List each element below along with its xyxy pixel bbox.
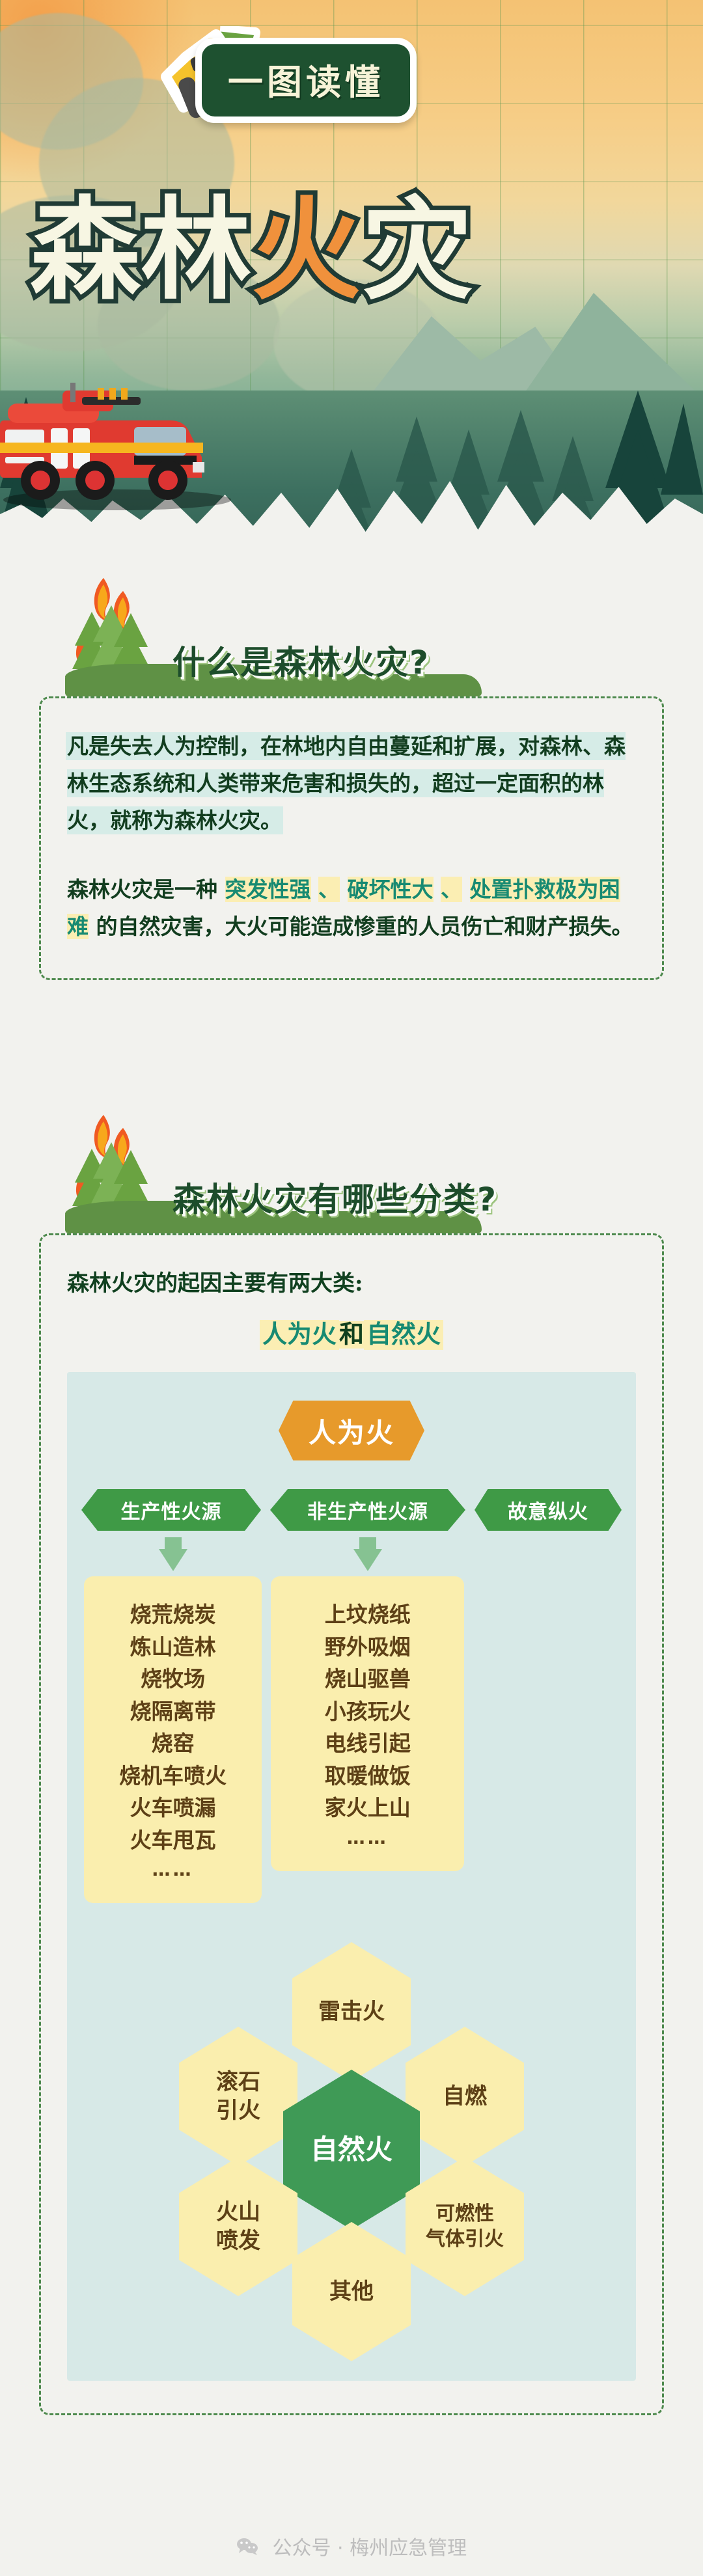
s1p2-seg-5: 、 [441, 877, 462, 902]
arrow-stem [359, 1537, 376, 1549]
arrow-cell [84, 1537, 262, 1571]
category-chip-arson[interactable]: 故意纵火 [475, 1489, 622, 1531]
list-ellipsis: …… [277, 1824, 458, 1852]
s1p2-seg-7: 的自然灾害，大火可能造成惨重的人员伤亡和财产损失。 [96, 914, 633, 939]
title-char-3: 火 [251, 195, 362, 306]
natural-node-spontaneous[interactable]: 自燃 [406, 2027, 524, 2166]
read-in-one-picture-badge[interactable]: 一图读懂 [195, 38, 417, 123]
lead2-natural-fire: 自然火 [364, 1320, 443, 1350]
natural-fire-center-node[interactable]: 自然火 [283, 2070, 420, 2230]
s1p2-seg-3: 、 [318, 877, 340, 902]
list-item: 火车甩瓦 [90, 1824, 255, 1857]
arrow-down-icon [353, 1549, 382, 1571]
title-char-2: 林 [141, 195, 251, 306]
footer: 公众号 · 梅州应急管理 [0, 2532, 703, 2561]
section-fire-classification: 森林火灾有哪些分类? 森林火灾的起因主要有两大类: 人为火和自然火 人为火 生产… [0, 1110, 703, 2415]
list-item: 烧牧场 [90, 1663, 255, 1695]
badge-pill[interactable]: 一图读懂 [195, 38, 417, 123]
lead2-conjunction: 和 [339, 1321, 364, 1349]
arrow-down-icon [159, 1549, 187, 1571]
badge-label: 一图读懂 [228, 53, 384, 105]
natural-node-gas[interactable]: 可燃性 气体引火 [406, 2157, 524, 2296]
section2-lead2: 人为火和自然火 [67, 1314, 636, 1350]
node-label: 可燃性 气体引火 [426, 2201, 504, 2252]
list-item: 家火上山 [277, 1792, 458, 1824]
list-item: 烧隔离带 [90, 1695, 255, 1728]
category-chip-productive[interactable]: 生产性火源 [81, 1489, 261, 1531]
section2-lead: 森林火灾的起因主要有两大类: [67, 1265, 636, 1297]
list-item: 野外吸烟 [277, 1631, 458, 1664]
human-fire-node[interactable]: 人为火 [279, 1401, 424, 1460]
section-what-is-forest-fire: 什么是森林火灾? 凡是失去人为控制，在林地内自由蔓延和扩展，对森林、森林生态系统… [0, 573, 703, 980]
fire-truck-icon [0, 364, 247, 514]
human-fire-lists: 烧荒烧炭 炼山造林 烧牧场 烧隔离带 烧窑 烧机车喷火 火车喷漏 火车甩瓦 ……… [84, 1576, 619, 1903]
section1-paragraph-2: 森林火灾是一种 突发性强 、 破坏性大 、 处置扑救极为困难 的自然灾害，大火可… [67, 871, 636, 946]
list-item: 电线引起 [277, 1727, 458, 1760]
section2-title: 森林火灾有哪些分类? [172, 1173, 497, 1220]
arrow-stem [165, 1537, 182, 1549]
footer-text: 公众号 · 梅州应急管理 [272, 2537, 467, 2560]
classification-panel: 人为火 生产性火源 非生产性火源 故意纵火 [67, 1372, 636, 2381]
node-label: 自然火 [310, 2132, 393, 2168]
arrow-row [84, 1537, 619, 1571]
node-label: 自燃 [443, 2082, 487, 2111]
list-item: 烧机车喷火 [90, 1760, 255, 1792]
natural-node-volcano[interactable]: 火山 喷发 [179, 2157, 297, 2296]
natural-node-thunder[interactable]: 雷击火 [292, 1942, 411, 2081]
section1-title: 什么是森林火灾? [172, 637, 430, 683]
nonproductive-source-list: 上坟烧纸 野外吸烟 烧山驱兽 小孩玩火 电线引起 取暖做饭 家火上山 …… [271, 1576, 464, 1871]
human-fire-category-row: 生产性火源 非生产性火源 故意纵火 [84, 1489, 619, 1531]
arrow-cell-empty [473, 1537, 619, 1571]
node-label: 火山 喷发 [216, 2198, 260, 2255]
list-item: 小孩玩火 [277, 1695, 458, 1728]
node-label: 滚石 引火 [216, 2068, 260, 2125]
section2-body-box: 森林火灾的起因主要有两大类: 人为火和自然火 人为火 生产性火源 非生产性火源 … [39, 1233, 664, 2415]
arrow-cell [271, 1537, 464, 1571]
list-item: 取暖做饭 [277, 1760, 458, 1792]
node-label: 其他 [329, 2277, 374, 2306]
list-item: 上坟烧纸 [277, 1598, 458, 1631]
list-item: 烧窑 [90, 1727, 255, 1760]
hero-banner: 一图读懂 森 林 火 灾 [0, 0, 703, 560]
category-chip-nonproductive[interactable]: 非生产性火源 [270, 1489, 465, 1531]
node-label: 雷击火 [318, 1997, 385, 2026]
natural-node-rockfall[interactable]: 滚石 引火 [179, 2027, 297, 2166]
list-item: 炼山造林 [90, 1631, 255, 1664]
natural-node-other[interactable]: 其他 [292, 2222, 411, 2361]
page-title: 森 林 火 灾 [30, 182, 681, 319]
list-ellipsis: …… [90, 1856, 255, 1884]
section2-header: 森林火灾有哪些分类? [0, 1110, 703, 1233]
title-char-4: 灾 [362, 195, 473, 306]
productive-source-list: 烧荒烧炭 炼山造林 烧牧场 烧隔离带 烧窑 烧机车喷火 火车喷漏 火车甩瓦 …… [84, 1576, 262, 1903]
s1p2-seg-1: 森林火灾是一种 [67, 877, 217, 902]
s1p2-seg-2: 突发性强 [225, 877, 311, 902]
lead2-human-fire: 人为火 [260, 1320, 339, 1350]
section1-header: 什么是森林火灾? [0, 573, 703, 696]
title-char-1: 森 [30, 195, 141, 306]
natural-fire-diagram: 雷击火 滚石 引火 自燃 自然火 火山 喷发 可燃性 气体引火 [84, 1942, 619, 2346]
section1-body-box: 凡是失去人为控制，在林地内自由蔓延和扩展，对森林、森林生态系统和人类带来危害和损… [39, 696, 664, 980]
s1p2-seg-4: 破坏性大 [348, 877, 434, 902]
list-item: 烧荒烧炭 [90, 1598, 255, 1631]
section1-p1-text: 凡是失去人为控制，在林地内自由蔓延和扩展，对森林、森林生态系统和人类带来危害和损… [67, 733, 626, 833]
list-item: 烧山驱兽 [277, 1663, 458, 1695]
list-item: 火车喷漏 [90, 1792, 255, 1824]
section1-paragraph-1: 凡是失去人为控制，在林地内自由蔓延和扩展，对森林、森林生态系统和人类带来危害和损… [67, 728, 636, 839]
wechat-icon [236, 2537, 258, 2560]
